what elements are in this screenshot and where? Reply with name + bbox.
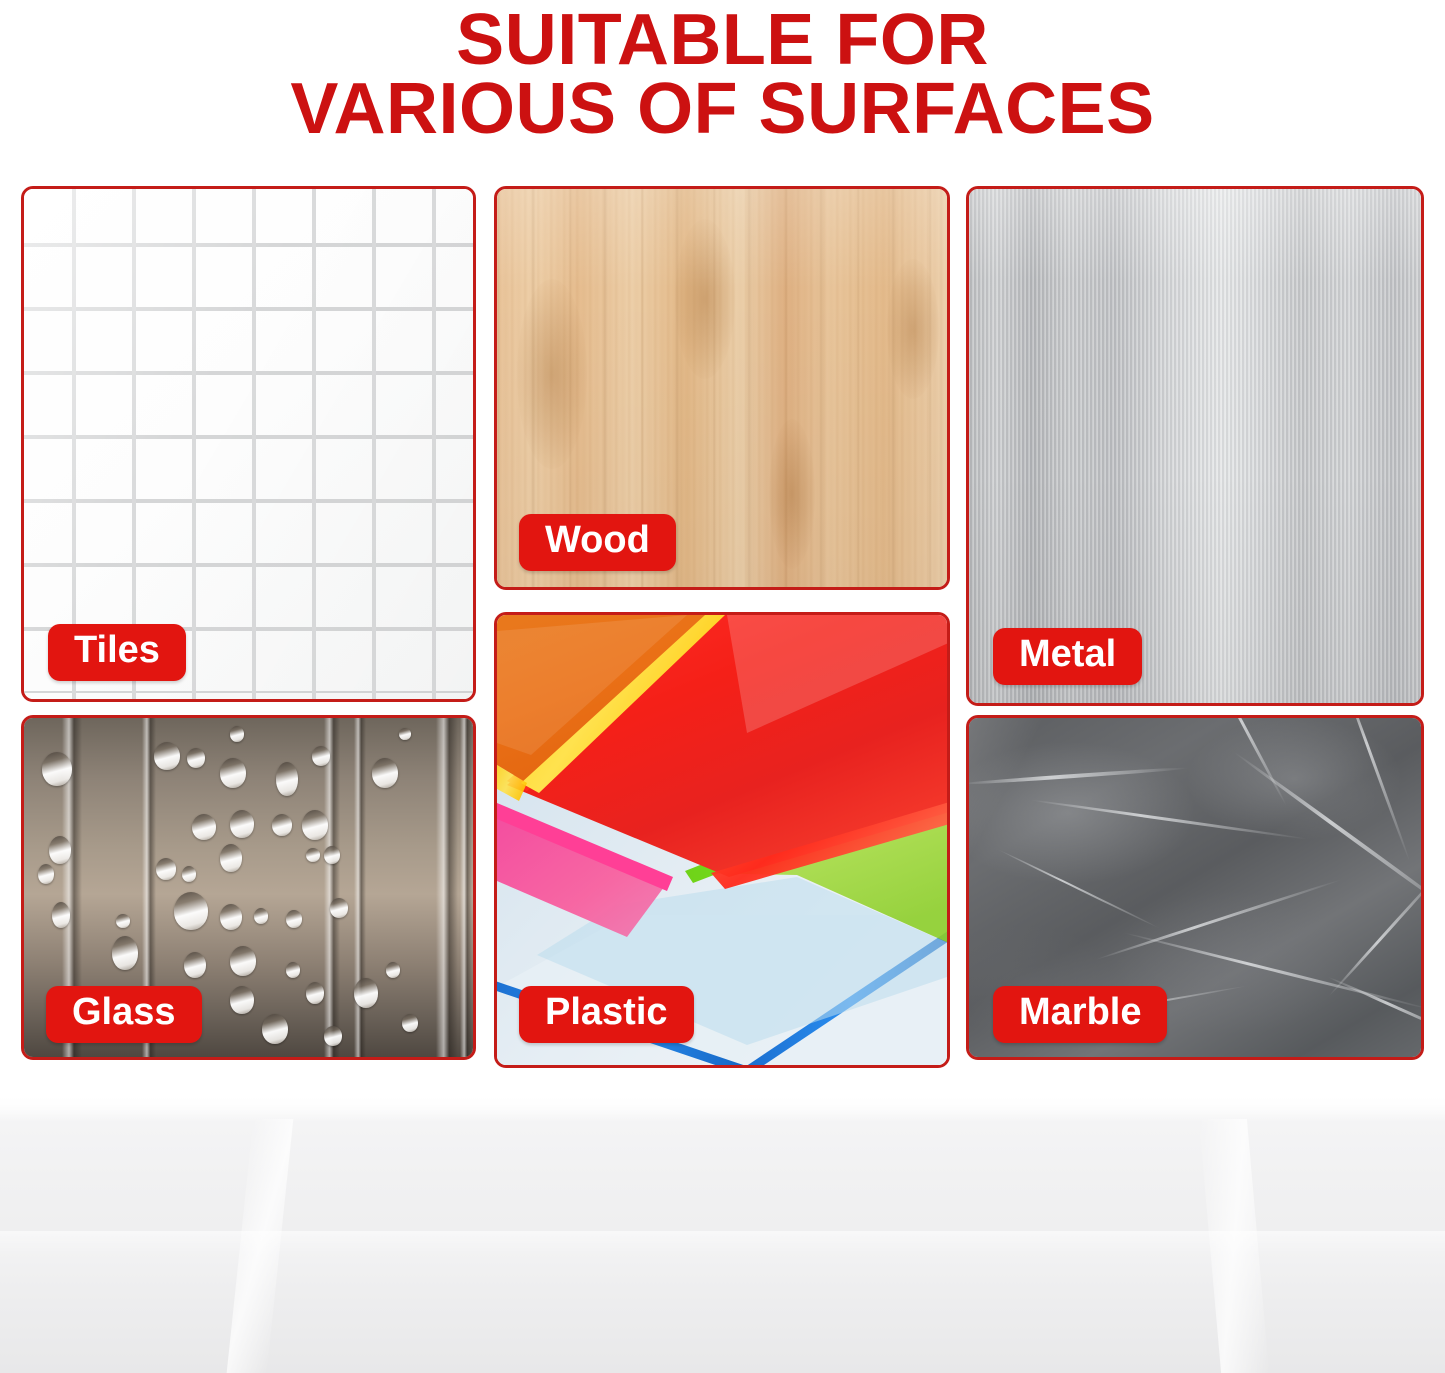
metal-sheen — [969, 189, 1421, 703]
water-droplet — [306, 982, 324, 1004]
water-droplet — [112, 936, 138, 970]
water-droplet — [272, 814, 292, 836]
water-droplet — [286, 910, 302, 928]
page-title: SUITABLE FOR VARIOUS OF SURFACES — [0, 0, 1445, 144]
water-droplet — [302, 810, 328, 840]
water-droplet — [192, 814, 216, 840]
water-droplet — [254, 908, 268, 924]
surface-panel-wood: Wood — [494, 186, 950, 590]
surface-label-glass: Glass — [46, 986, 202, 1043]
water-droplet — [220, 904, 242, 930]
water-droplet — [184, 952, 206, 978]
surface-panel-marble: Marble — [966, 715, 1424, 1060]
product-surface-bottom — [0, 1095, 1445, 1373]
water-droplet — [174, 892, 208, 930]
water-droplet — [230, 810, 254, 838]
water-droplet — [49, 836, 71, 864]
water-droplet — [116, 914, 130, 928]
water-droplet — [306, 848, 320, 862]
water-droplet — [230, 986, 254, 1014]
water-droplet — [324, 846, 340, 864]
water-droplet — [286, 962, 300, 978]
glass-streak-3 — [324, 718, 340, 1057]
water-droplet — [386, 962, 400, 978]
page-title-line-2: VARIOUS OF SURFACES — [0, 75, 1445, 144]
surface-label-marble: Marble — [993, 986, 1167, 1043]
infographic-page: SUITABLE FOR VARIOUS OF SURFACES Tiles W… — [0, 0, 1445, 1373]
water-droplet — [324, 1026, 342, 1046]
surface-panel-plastic: Plastic — [494, 612, 950, 1068]
glass-streak-5 — [436, 718, 458, 1057]
surface-panel-glass: Glass — [21, 715, 476, 1060]
page-title-line-1: SUITABLE FOR — [0, 6, 1445, 75]
surface-label-wood: Wood — [519, 514, 676, 571]
water-droplet — [330, 898, 348, 918]
water-droplet — [402, 1014, 418, 1032]
surface-label-plastic: Plastic — [519, 986, 694, 1043]
surface-label-tiles: Tiles — [48, 624, 186, 681]
water-droplet — [220, 844, 242, 872]
water-droplet — [276, 762, 298, 796]
water-droplet — [52, 902, 70, 928]
surface-panel-metal: Metal — [966, 186, 1424, 706]
surface-panel-tiles: Tiles — [21, 186, 476, 702]
surface-label-metal: Metal — [993, 628, 1142, 685]
water-droplet — [372, 758, 398, 788]
water-droplet — [220, 758, 246, 788]
water-droplet — [230, 726, 244, 742]
water-droplet — [187, 748, 205, 768]
water-droplet — [154, 742, 180, 770]
water-droplet — [156, 858, 176, 880]
water-droplet — [262, 1014, 288, 1044]
water-droplet — [230, 946, 256, 976]
water-droplet — [312, 746, 330, 766]
glass-streak-6 — [460, 718, 472, 1057]
water-droplet — [42, 752, 72, 786]
water-droplet — [182, 866, 196, 882]
water-droplet — [399, 728, 411, 740]
water-droplet — [354, 978, 378, 1008]
water-droplet — [38, 864, 54, 884]
bottom-band-top — [0, 1095, 1445, 1121]
tiles-sheen — [24, 189, 473, 699]
